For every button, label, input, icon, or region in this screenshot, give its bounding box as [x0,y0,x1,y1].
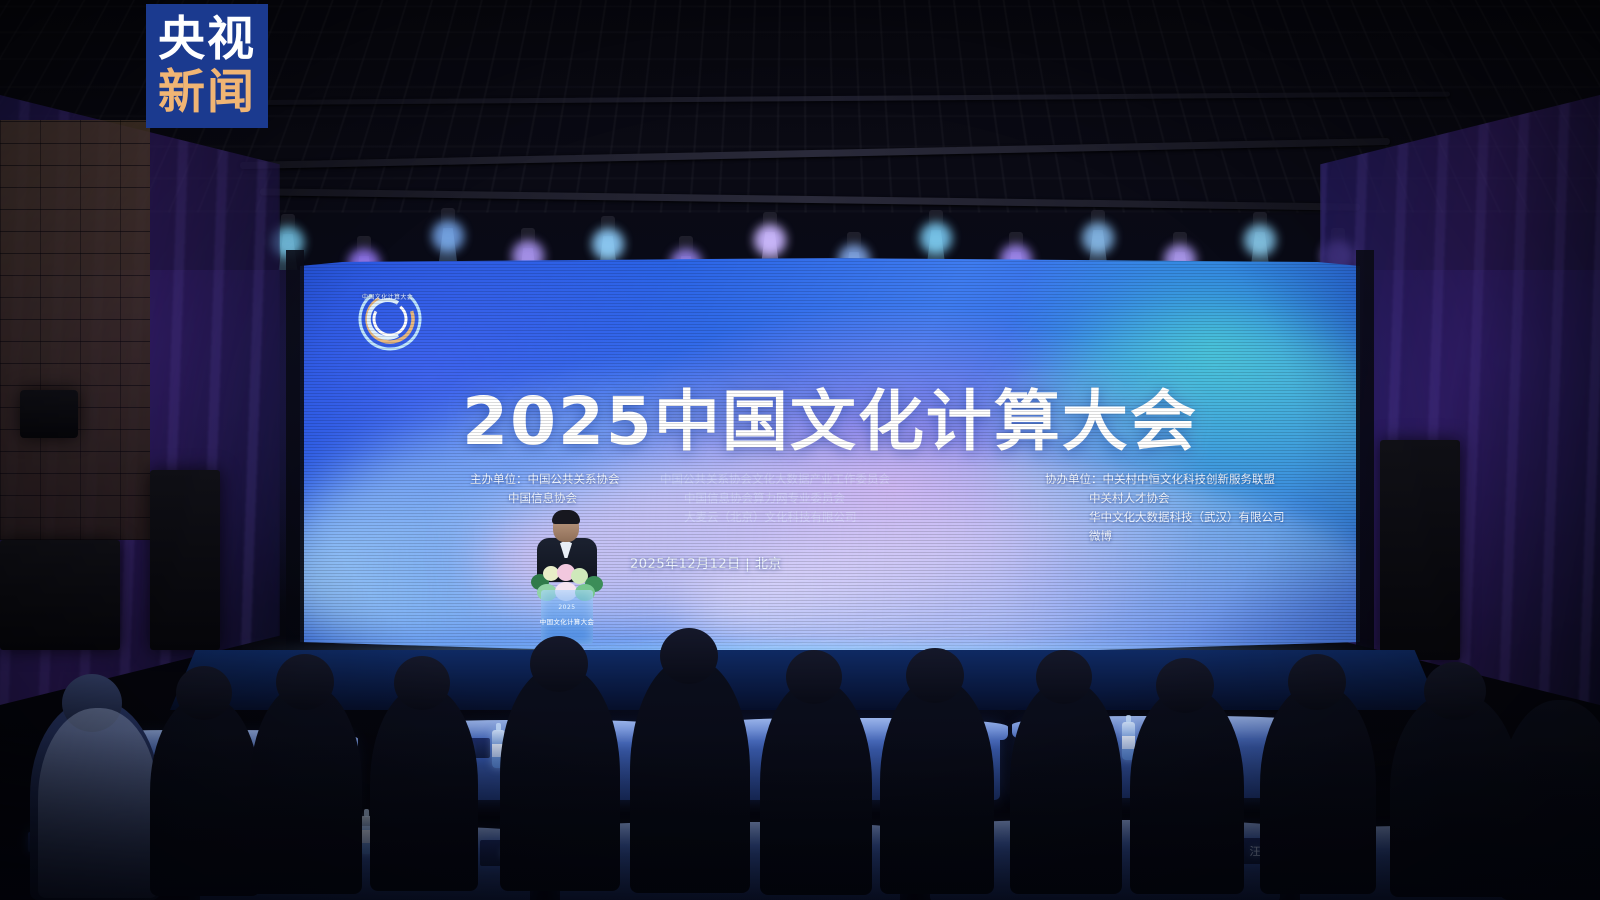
middle-organizer-column: 中国公共关系协会文化大数据产业工作委员会 中国信息协会算力网专业委员会 大麦云（… [660,470,890,527]
audience-member [38,708,158,898]
audience-member [250,684,362,894]
audience-member [150,696,260,896]
audience-member-head [394,656,450,710]
organizers-block: 主办单位：中国公共关系协会 中国信息协会 中国公共关系协会文化大数据产业工作委员… [300,470,1360,580]
cohost-line: 中关村人才协会 [1045,489,1285,508]
host-line: 中国信息协会 [470,489,620,508]
host-organizer-column: 主办单位：中国公共关系协会 中国信息协会 [470,470,620,508]
audience-member-head [786,650,842,704]
audience-member [1500,700,1600,900]
audience-area: 王 立 任 张 霄 高士博 刘 臭 汪 彤 [0,600,1600,900]
stage-lamp [600,216,616,246]
cohost-organizer-column: 协办单位：中关村中恒文化科技创新服务联盟 中关村人才协会 华中文化大数据科技（武… [1045,470,1285,546]
audience-member-head [276,654,334,710]
event-date-location: 2025年12月12日 | 北京 [630,553,782,572]
stage-lamp [846,232,862,262]
middle-line: 中国信息协会算力网专业委员会 [660,489,890,508]
stage-lamp [1090,210,1106,240]
audience-member [370,686,478,891]
stage-photo: 中国文化计算大会 2025中国文化计算大会 主办单位：中国公共关系协会 中国信息… [0,0,1600,900]
audience-member-head [1424,662,1486,720]
audience-member-head [1156,658,1214,713]
cctv-news-watermark: 央视 新闻 [146,4,268,128]
conference-title: 2025中国文化计算大会 [300,368,1360,464]
audience-member-head [906,648,964,703]
stage-lamp [1172,232,1188,262]
audience-member [1010,680,1122,894]
cohost-line: 微博 [1045,527,1285,546]
brick-wall [0,120,150,540]
led-stage-screen: 中国文化计算大会 2025中国文化计算大会 主办单位：中国公共关系协会 中国信息… [300,258,1360,658]
audience-member [1260,684,1376,894]
cctv-logo-line1: 央视 [158,16,256,63]
stage-lamp [440,208,456,238]
audience-member [630,658,750,893]
audience-member-head [530,636,588,692]
cctv-logo-line2: 新闻 [158,69,256,116]
audience-member-head [1288,654,1346,710]
cohost-line: 协办单位：中关村中恒文化科技创新服务联盟 [1045,470,1285,489]
middle-line: 大麦云（北京）文化科技有限公司 [660,508,890,527]
stage-lamp [928,210,944,240]
middle-line: 中国公共关系协会文化大数据产业工作委员会 [660,470,890,489]
stage-lamp [520,228,536,258]
audience-member-head [1036,650,1092,704]
stage-lamp [280,214,296,244]
conference-logo-label: 中国文化计算大会 [362,292,413,301]
audience-member [500,666,620,891]
stage-lamp [1252,212,1268,242]
stage-lamp [1008,232,1024,262]
host-line: 主办单位：中国公共关系协会 [470,470,620,489]
audience-member [880,678,994,894]
audience-member [1130,688,1244,894]
stage-lamp [356,236,372,266]
audience-member [760,680,872,895]
audience-member-head [176,666,232,720]
stage-lamp [762,212,778,242]
monitor-left [20,390,78,438]
audience-member-head [660,628,718,684]
speaker-hair [552,510,580,524]
cohost-line: 华中文化大数据科技（武汉）有限公司 [1045,508,1285,527]
